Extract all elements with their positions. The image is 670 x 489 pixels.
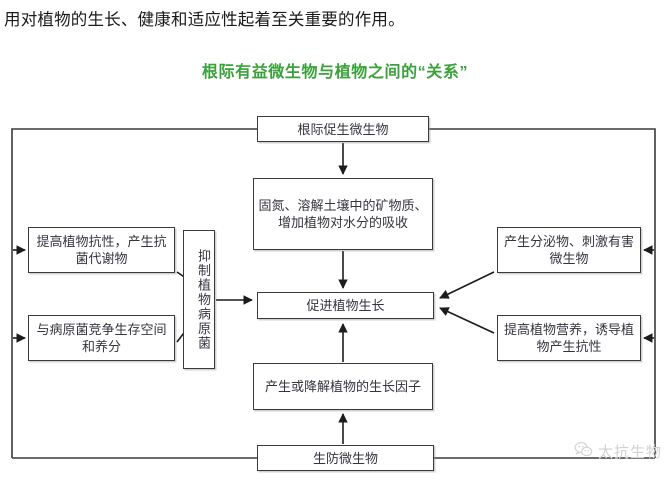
node-compete-with-pathogens[interactable]: 与病原菌竞争生存空间和养分	[28, 315, 175, 361]
node-label: 产生或降解植物的生长因子	[258, 378, 428, 395]
node-nutrient-function[interactable]: 固氮、溶解土壤中的矿物质、增加植物对水分的吸收	[253, 178, 433, 250]
node-label: 提高植物抗性，产生抗菌代谢物	[33, 233, 170, 267]
node-biocontrol-microbes[interactable]: 生防微生物	[257, 445, 434, 471]
node-secretions-stimulate[interactable]: 产生分泌物、刺激有害微生物	[497, 227, 641, 273]
wechat-icon	[574, 440, 593, 463]
watermark: 太抗生物	[574, 440, 662, 463]
intro-paragraph: 用对植物的生长、健康和适应性起着至关重要的作用。	[4, 6, 405, 30]
node-label: 固氮、溶解土壤中的矿物质、增加植物对水分的吸收	[258, 197, 428, 231]
node-promote-plant-growth[interactable]: 促进植物生长	[257, 292, 434, 319]
node-label: 生防微生物	[262, 450, 429, 467]
node-label: 根际促生微生物	[262, 121, 424, 138]
diagram-title: 根际有益微生物与植物之间的“关系”	[0, 58, 670, 82]
relationship-diagram: 根际促生微生物 固氮、溶解土壤中的矿物质、增加植物对水分的吸收 促进植物生长 产…	[0, 100, 670, 489]
watermark-label: 太抗生物	[598, 441, 662, 462]
node-label: 促进植物生长	[262, 297, 429, 314]
node-label: 产生分泌物、刺激有害微生物	[502, 233, 636, 267]
node-growth-factor[interactable]: 产生或降解植物的生长因子	[253, 363, 433, 410]
node-label: 抑制植物病原菌	[186, 249, 212, 351]
node-improve-nutrition[interactable]: 提高植物营养，诱导植物产生抗性	[497, 315, 641, 361]
page-root: 用对植物的生长、健康和适应性起着至关重要的作用。 根际有益微生物与植物之间的“关…	[0, 0, 670, 489]
node-label: 提高植物营养，诱导植物产生抗性	[502, 321, 636, 355]
node-inhibit-pathogens[interactable]: 抑制植物病原菌	[183, 230, 215, 369]
node-label: 与病原菌竞争生存空间和养分	[33, 321, 170, 355]
node-rhizosphere-growth-promoting-microbes[interactable]: 根际促生微生物	[257, 116, 429, 142]
node-improve-resistance[interactable]: 提高植物抗性，产生抗菌代谢物	[28, 227, 175, 273]
